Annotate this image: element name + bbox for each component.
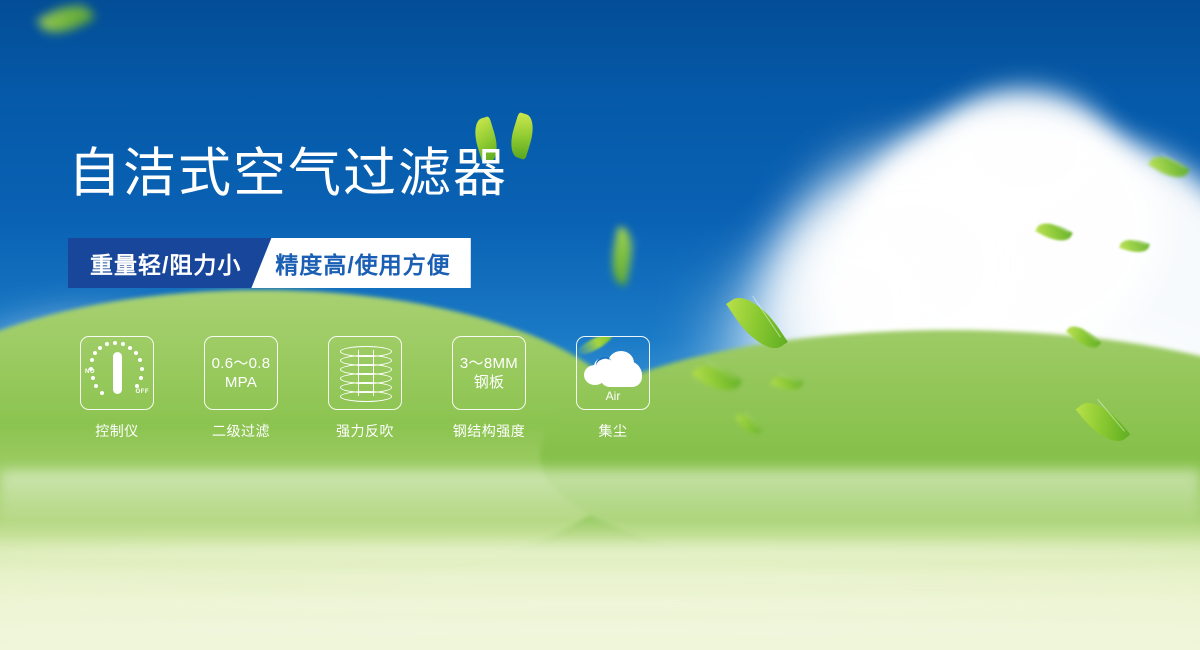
page-title: 自洁式空气过滤器	[68, 143, 508, 205]
product-hero-banner: 自洁式空气过滤器 重量轻/阻力小 精度高/使用方便	[0, 0, 1200, 650]
air-label: Air	[582, 389, 644, 403]
air-cloud-icon: Air	[582, 345, 644, 401]
filter-stack-icon	[340, 346, 390, 400]
meadow-streak	[0, 598, 1200, 608]
feature-caption: 控制仪	[95, 421, 139, 441]
feature-item-steel[interactable]: 3～8MM 钢板 钢结构强度	[440, 336, 538, 441]
dial-needle	[113, 352, 122, 394]
feature-item-pressure[interactable]: 0.6～0.8 MPA 二级过滤	[192, 336, 290, 441]
meadow-streak	[0, 546, 1200, 556]
feature-item-controller[interactable]: NO OFF 控制仪	[68, 336, 166, 441]
feature-icon-box	[328, 336, 402, 410]
feature-icon-box: 0.6～0.8 MPA	[204, 336, 278, 410]
steel-value-line1: 3～8MM	[460, 354, 518, 373]
feature-icon-box: NO OFF	[80, 336, 154, 410]
leaf-streak-icon	[576, 336, 614, 359]
steel-value-line2: 钢板	[460, 373, 518, 392]
pressure-value-line1: 0.6～0.8	[212, 354, 271, 373]
feature-item-dust[interactable]: Air 集尘	[564, 336, 662, 441]
subtitle-left: 重量轻/阻力小	[68, 238, 271, 288]
feature-caption: 钢结构强度	[453, 421, 526, 441]
sprout-leaf-right	[506, 112, 538, 160]
feature-caption: 集尘	[599, 421, 628, 441]
meadow-streak	[0, 624, 1200, 634]
meadow-streak	[0, 572, 1200, 582]
feature-caption: 强力反吹	[336, 421, 394, 441]
subtitle-right: 精度高/使用方便	[251, 238, 470, 288]
feature-icon-box: Air	[576, 336, 650, 410]
gauge-dial-icon: NO OFF	[85, 341, 149, 405]
subtitle-bar: 重量轻/阻力小 精度高/使用方便	[68, 238, 471, 288]
steel-plate-value-icon: 3～8MM 钢板	[460, 354, 518, 392]
pressure-value-line2: MPA	[212, 373, 271, 392]
foreground-meadow	[0, 520, 1200, 650]
pressure-value-icon: 0.6～0.8 MPA	[212, 354, 271, 392]
grass-field	[0, 460, 1200, 650]
feature-list: NO OFF 控制仪 0.6～0.8 MPA 二级过滤	[68, 336, 662, 441]
dial-label-on: NO	[85, 369, 95, 375]
feature-item-backblow[interactable]: 强力反吹	[316, 336, 414, 441]
dial-label-off: OFF	[136, 389, 150, 395]
feature-icon-box: 3～8MM 钢板	[452, 336, 526, 410]
feature-caption: 二级过滤	[212, 421, 270, 441]
